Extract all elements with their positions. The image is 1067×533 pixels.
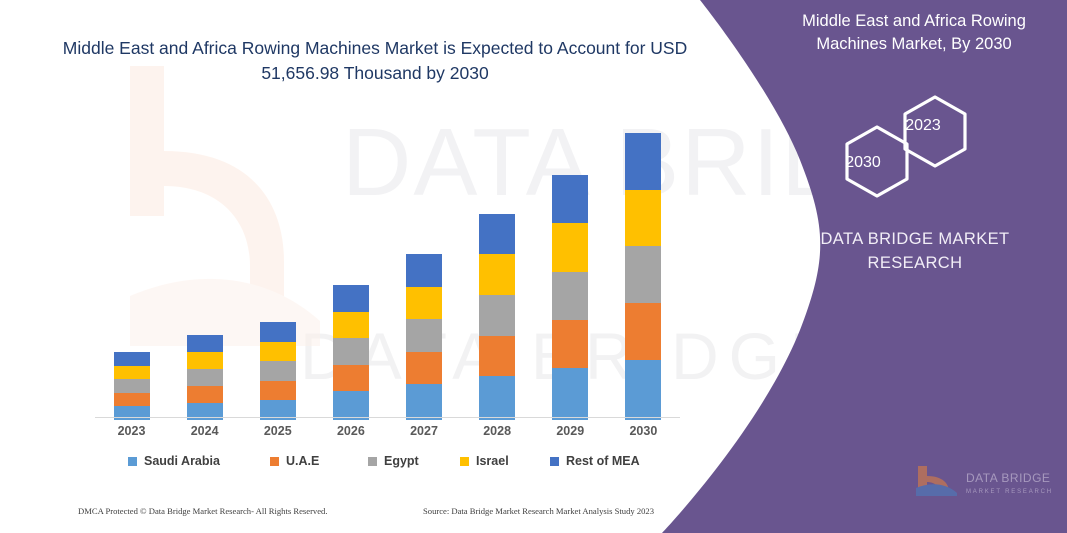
- bar-segment-saudi-arabia: [406, 384, 442, 420]
- bar-segment-rest-of-mea: [625, 133, 661, 190]
- bar-segment-egypt: [479, 295, 515, 336]
- x-axis-label-2029: 2029: [534, 424, 607, 438]
- legend-item-egypt[interactable]: Egypt: [368, 454, 419, 468]
- legend-label: Saudi Arabia: [144, 454, 220, 468]
- legend-label: Israel: [476, 454, 509, 468]
- hexagon-2023-label: 2023: [893, 117, 953, 135]
- bar-segment-u-a-e: [114, 393, 150, 407]
- bar-2027: [406, 254, 442, 420]
- bar-2029: [552, 175, 588, 420]
- footer-copyright: DMCA Protected © Data Bridge Market Rese…: [78, 506, 328, 516]
- x-axis-label-2024: 2024: [168, 424, 241, 438]
- bar-2024: [187, 335, 223, 420]
- legend-item-israel[interactable]: Israel: [460, 454, 509, 468]
- panel-title: Middle East and Africa Rowing Machines M…: [768, 10, 1060, 57]
- data-bridge-logo-icon: DATA BRIDGE MARKET RESEARCH: [912, 462, 1052, 502]
- bar-segment-u-a-e: [260, 381, 296, 401]
- bar-segment-israel: [333, 312, 369, 339]
- x-axis-label-2026: 2026: [314, 424, 387, 438]
- x-axis-label-2023: 2023: [95, 424, 168, 438]
- legend-label: Rest of MEA: [566, 454, 640, 468]
- x-axis-label-2028: 2028: [461, 424, 534, 438]
- bar-segment-egypt: [187, 369, 223, 386]
- legend-swatch-icon: [550, 457, 559, 466]
- legend-swatch-icon: [270, 457, 279, 466]
- brand-line-2: RESEARCH: [790, 252, 1040, 276]
- x-axis-label-2025: 2025: [241, 424, 314, 438]
- bar-segment-egypt: [552, 272, 588, 320]
- bar-segment-israel: [625, 190, 661, 247]
- bar-segment-saudi-arabia: [479, 376, 515, 420]
- legend-label: Egypt: [384, 454, 419, 468]
- bar-2026: [333, 285, 369, 420]
- x-axis-label-2027: 2027: [388, 424, 461, 438]
- bar-segment-saudi-arabia: [552, 368, 588, 420]
- x-axis-line: [95, 417, 680, 418]
- footer: DMCA Protected © Data Bridge Market Rese…: [78, 506, 678, 522]
- hexagon-badges: 2030 2023: [815, 92, 990, 202]
- bar-segment-u-a-e: [406, 352, 442, 385]
- bar-2030: [625, 133, 661, 420]
- page-title: Middle East and Africa Rowing Machines M…: [60, 36, 690, 86]
- bar-segment-israel: [260, 342, 296, 362]
- legend-swatch-icon: [460, 457, 469, 466]
- bar-segment-u-a-e: [333, 365, 369, 392]
- legend-item-u-a-e[interactable]: U.A.E: [270, 454, 319, 468]
- bar-segment-egypt: [625, 246, 661, 303]
- bar-segment-israel: [406, 287, 442, 320]
- infographic-canvas: DATA BRIDGE DATA BRIDGE MARKET RESEARCH …: [0, 0, 1067, 533]
- bar-segment-u-a-e: [479, 336, 515, 377]
- bar-segment-israel: [479, 254, 515, 295]
- bar-segment-egypt: [406, 319, 442, 352]
- bar-2025: [260, 322, 296, 420]
- legend-swatch-icon: [368, 457, 377, 466]
- bar-2023: [114, 352, 150, 420]
- bar-segment-rest-of-mea: [187, 335, 223, 352]
- bar-segment-egypt: [114, 379, 150, 393]
- hexagon-2030-label: 2030: [833, 154, 893, 172]
- bar-segment-israel: [114, 366, 150, 380]
- bar-2028: [479, 214, 515, 420]
- x-axis-label-2030: 2030: [607, 424, 680, 438]
- x-axis-labels: 20232024202520262027202820292030: [95, 424, 680, 446]
- brand-name: DATA BRIDGE MARKET RESEARCH: [790, 228, 1040, 276]
- bar-segment-egypt: [333, 338, 369, 365]
- bar-segment-israel: [552, 223, 588, 271]
- brand-line-1: DATA BRIDGE MARKET: [790, 228, 1040, 252]
- bar-segment-rest-of-mea: [552, 175, 588, 223]
- bar-segment-israel: [187, 352, 223, 369]
- bar-segment-rest-of-mea: [260, 322, 296, 342]
- stacked-bar-chart: [95, 110, 680, 420]
- bar-segment-egypt: [260, 361, 296, 381]
- legend-item-saudi-arabia[interactable]: Saudi Arabia: [128, 454, 220, 468]
- legend-item-rest-of-mea[interactable]: Rest of MEA: [550, 454, 640, 468]
- bar-segment-u-a-e: [625, 303, 661, 360]
- bar-segment-rest-of-mea: [333, 285, 369, 312]
- legend-swatch-icon: [128, 457, 137, 466]
- bar-segment-u-a-e: [552, 320, 588, 368]
- bar-segment-saudi-arabia: [333, 391, 369, 420]
- bar-segment-u-a-e: [187, 386, 223, 403]
- logo-main-text: DATA BRIDGE: [966, 471, 1050, 485]
- legend-label: U.A.E: [286, 454, 319, 468]
- chart-legend: Saudi ArabiaU.A.EEgyptIsraelRest of MEA: [100, 454, 670, 476]
- logo-sub-text: MARKET RESEARCH: [966, 489, 1052, 495]
- bar-segment-rest-of-mea: [479, 214, 515, 255]
- footer-source: Source: Data Bridge Market Research Mark…: [423, 506, 654, 516]
- bar-segment-rest-of-mea: [114, 352, 150, 366]
- bar-segment-rest-of-mea: [406, 254, 442, 287]
- bar-segment-saudi-arabia: [625, 360, 661, 420]
